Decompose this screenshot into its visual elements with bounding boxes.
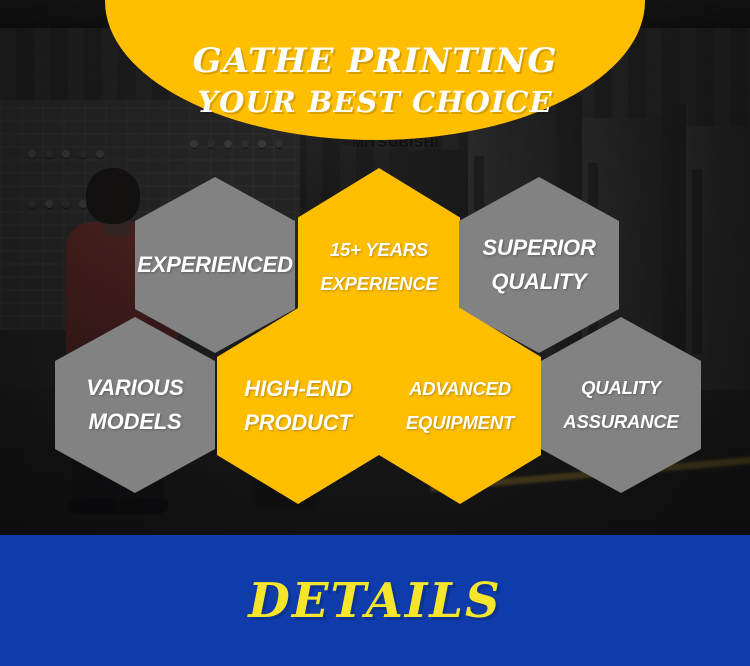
hex-label: QUALITY: [581, 371, 661, 405]
details-title: DETAILS: [248, 573, 501, 629]
hex-label: VARIOUS: [86, 371, 183, 405]
promo-banner-page: MITSUBISHI GATHE PRINTING YOUR BEST CHOI…: [0, 0, 750, 666]
hex-label: 15+ YEARS: [330, 233, 428, 267]
hex-label: PRODUCT: [244, 406, 351, 440]
banner-title: GATHE PRINTING: [193, 40, 558, 82]
hex-label: SUPERIOR: [482, 231, 595, 265]
hex-various-models[interactable]: VARIOUS MODELS: [55, 317, 215, 493]
hex-label: ASSURANCE: [563, 405, 678, 439]
banner-subtitle: YOUR BEST CHOICE: [197, 82, 552, 122]
hex-label: EQUIPMENT: [406, 406, 514, 440]
hex-label: EXPERIENCED: [137, 248, 293, 282]
hex-quality-assurance[interactable]: QUALITY ASSURANCE: [541, 317, 701, 493]
hex-label: HIGH-END: [244, 372, 351, 406]
hex-label: EXPERIENCE: [320, 267, 437, 301]
details-footer: DETAILS: [0, 535, 750, 666]
hex-label: MODELS: [89, 405, 182, 439]
hex-label: QUALITY: [491, 265, 586, 299]
hex-label: ADVANCED: [409, 372, 511, 406]
